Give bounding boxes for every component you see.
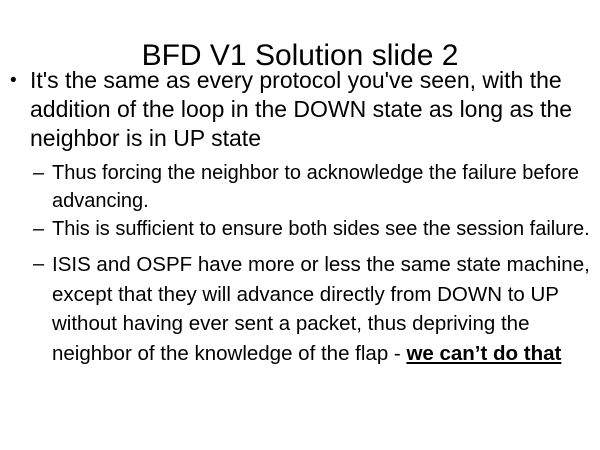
bullet-text: ISIS and OSPF have more or less the same…	[52, 250, 600, 368]
presentation-slide: BFD V1 Solution slide 2 • It's the same …	[0, 0, 600, 450]
bullet-text: It's the same as every protocol you've s…	[30, 66, 600, 153]
bullet-dot-icon: •	[10, 66, 17, 95]
bullet-item-level2: – ISIS and OSPF have more or less the sa…	[0, 250, 600, 368]
slide-body: • It's the same as every protocol you've…	[0, 66, 600, 368]
bullet-dash-icon: –	[33, 215, 44, 243]
bullet-item-level1: • It's the same as every protocol you've…	[0, 66, 600, 153]
bullet-item-level2: – This is sufficient to ensure both side…	[0, 215, 600, 243]
sub-bullet-list: – Thus forcing the neighbor to acknowled…	[0, 159, 600, 368]
bullet-text: Thus forcing the neighbor to acknowledge…	[52, 159, 600, 215]
bullet-dash-icon: –	[33, 250, 44, 280]
bullet-text-emphasis: we can’t do that	[406, 342, 561, 365]
bullet-dash-icon: –	[33, 159, 44, 187]
bullet-item-level2: – Thus forcing the neighbor to acknowled…	[0, 159, 600, 215]
bullet-text: This is sufficient to ensure both sides …	[52, 215, 600, 243]
